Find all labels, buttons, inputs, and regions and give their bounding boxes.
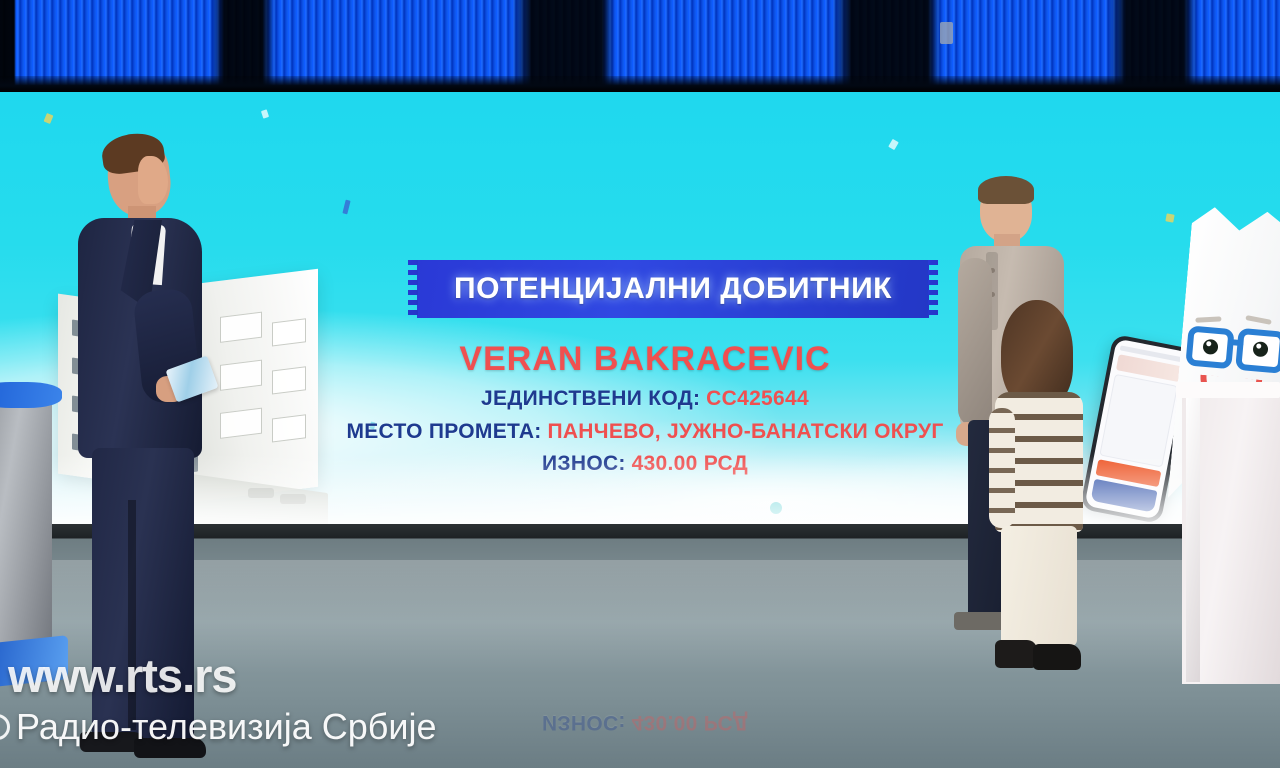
confetti-piece bbox=[888, 139, 899, 150]
child-trousers bbox=[1001, 526, 1077, 646]
copyright-icon bbox=[0, 714, 10, 740]
studio-led-backdrop bbox=[0, 0, 1280, 92]
location-value: ПАНЧЕВО, ЈУЖНО-БАНАТСКИ ОКРУГ bbox=[547, 420, 943, 443]
reflected-amount-label: ИЗНОС: bbox=[542, 711, 626, 734]
mascot-glasses-bridge bbox=[1229, 339, 1243, 346]
code-label: ЈЕДИНСТВЕНИ КОД: bbox=[481, 387, 700, 410]
presenter-trousers bbox=[92, 448, 194, 748]
guest-arm bbox=[958, 258, 992, 426]
backdrop-door-panel bbox=[940, 22, 953, 44]
location-label: МЕСТО ПРОМЕТА: bbox=[346, 420, 541, 443]
right-pedestal-edge bbox=[1186, 392, 1200, 682]
winner-row-location: МЕСТО ПРОМЕТА: ПАНЧЕВО, ЈУЖНО-БАНАТСКИ О… bbox=[280, 420, 1010, 444]
banner-title: ПОТЕНЦИЈАЛНИ ДОБИТНИК bbox=[454, 272, 892, 306]
confetti-piece bbox=[261, 109, 269, 118]
presenter-person bbox=[72, 140, 212, 660]
potential-winner-banner: ПОТЕНЦИЈАЛНИ ДОБИТНИК bbox=[408, 260, 938, 318]
guest-hair bbox=[978, 176, 1034, 204]
winner-row-code: ЈЕДИНСТВЕНИ КОД: CC425644 bbox=[280, 387, 1010, 411]
broadcast-frame: ПОТЕНЦИЈАЛНИ ДОБИТНИК VERAN BAKRACEVIC Ј… bbox=[0, 0, 1280, 768]
confetti-piece bbox=[342, 200, 350, 215]
copyright-watermark: Радио-телевизија Србије bbox=[0, 706, 437, 748]
child-sleeve bbox=[989, 408, 1015, 528]
copyright-text: Радио-телевизија Србије bbox=[16, 706, 437, 748]
banner-body: ПОТЕНЦИЈАЛНИ ДОБИТНИК bbox=[417, 260, 929, 318]
code-value: CC425644 bbox=[706, 387, 809, 410]
banner-left-zigzag-edge bbox=[408, 260, 418, 318]
confetti-piece bbox=[1165, 213, 1174, 222]
presenter-face bbox=[138, 156, 168, 204]
child-left-boot bbox=[995, 640, 1037, 668]
guest-child-person bbox=[995, 300, 1085, 675]
child-sleeve-stripes bbox=[989, 408, 1015, 528]
child-right-boot bbox=[1033, 644, 1081, 670]
winner-name: VERAN BAKRACEVIC bbox=[280, 340, 1010, 378]
banner-right-zigzag-edge bbox=[928, 260, 938, 318]
right-pedestal-top bbox=[1176, 382, 1280, 398]
left-pedestal-top bbox=[0, 382, 62, 408]
channel-watermark: www.rts.rs bbox=[8, 648, 237, 703]
confetti-piece bbox=[44, 113, 54, 124]
reflected-amount-value: 430.00 РСД bbox=[632, 711, 748, 734]
